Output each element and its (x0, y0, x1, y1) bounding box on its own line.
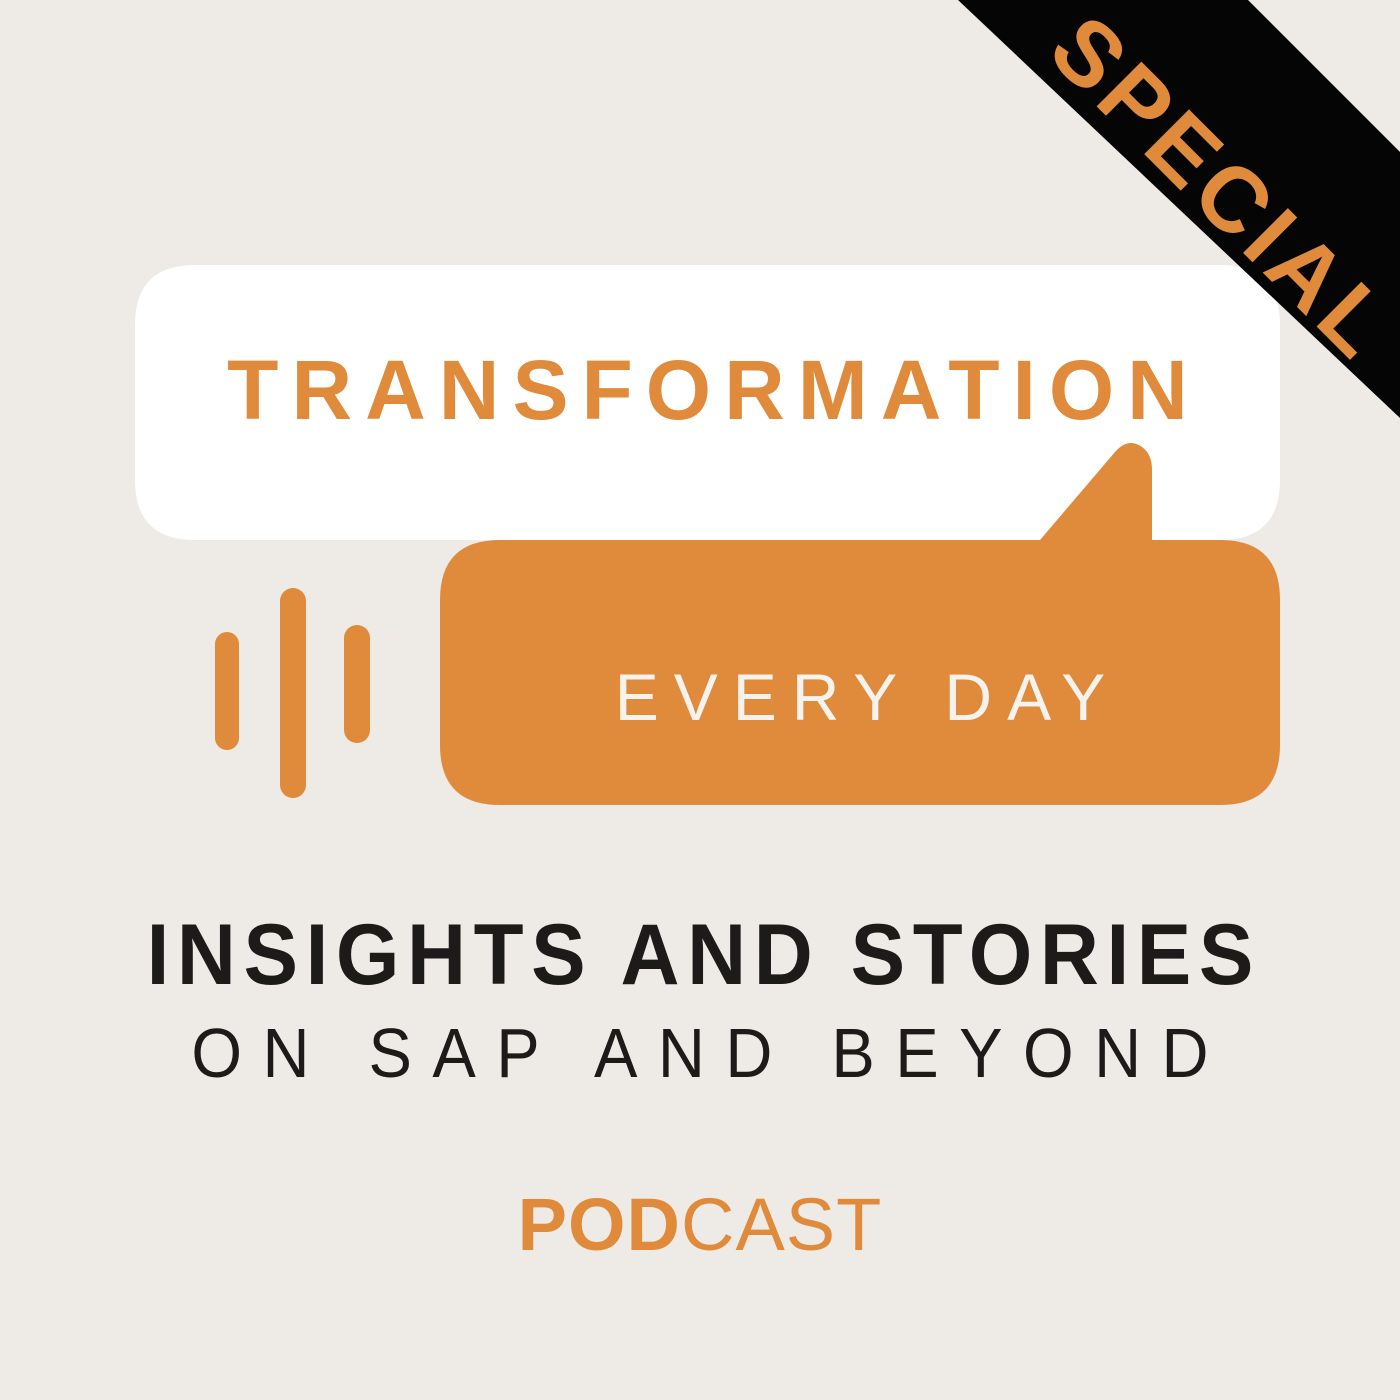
every-day-label: EVERY DAY (440, 664, 1280, 730)
audio-waveform-icon (215, 570, 370, 820)
transformation-label: TRANSFORMATION (135, 348, 1280, 432)
podcast-cover-art: TRANSFORMATION EVERY DAY SPECIAL INSIGHT… (0, 0, 1400, 1400)
page-subtitle: ON SAP AND BEYOND (49, 1018, 1351, 1088)
podcast-wordmark-light: CAST (681, 1183, 882, 1266)
podcast-wordmark: PODCAST (0, 1188, 1400, 1262)
podcast-wordmark-bold: POD (518, 1183, 681, 1266)
waveform-bar-1 (215, 632, 239, 750)
waveform-bar-2 (280, 588, 306, 798)
waveform-bar-3 (344, 625, 370, 743)
page-title: INSIGHTS AND STORIES (35, 912, 1365, 998)
